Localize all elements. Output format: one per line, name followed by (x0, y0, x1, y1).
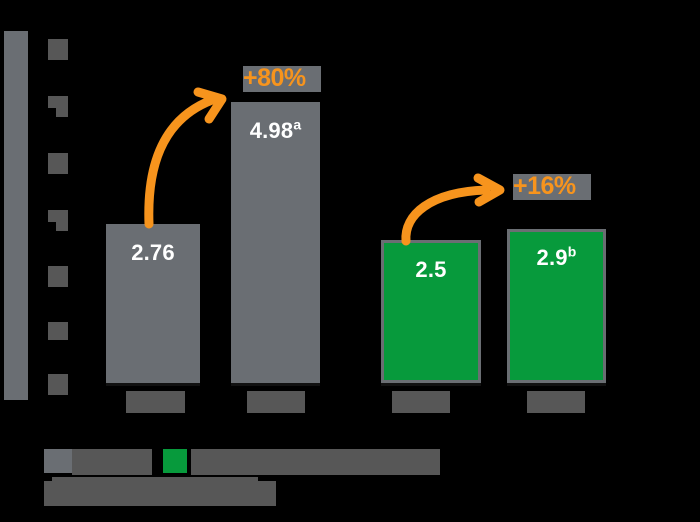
bar-value-text-0: 2.76 (131, 240, 175, 265)
bar-superscript-3: b (568, 244, 577, 260)
annotation-label-0: +80% (243, 64, 306, 93)
bar-1[interactable]: 4.98a (231, 102, 320, 383)
bar-baseline-0 (106, 383, 200, 386)
arrow-curve-0 (149, 100, 212, 224)
legend-label-0 (72, 449, 152, 475)
bar-value-text-3: 2.9 (537, 245, 568, 270)
plot-area: 2.76 4.98a 2.5 2.9b (0, 0, 700, 522)
x-axis-tick-label-1 (247, 391, 305, 413)
bar-value-text-2: 2.5 (415, 257, 446, 282)
bar-3[interactable]: 2.9b (507, 229, 606, 383)
bar-value-text-1: 4.98 (250, 118, 294, 143)
bar-0[interactable]: 2.76 (106, 224, 200, 383)
legend-swatch-gray (44, 449, 72, 473)
x-axis-tick-label-2 (392, 391, 450, 413)
bar-baseline-3 (507, 383, 606, 386)
bar-value-3: 2.9b (510, 245, 603, 271)
x-axis-tick-label-0 (126, 391, 185, 413)
annotation-label-1: +16% (513, 172, 576, 201)
bar-2[interactable]: 2.5 (381, 240, 481, 383)
bar-value-2: 2.5 (384, 257, 478, 283)
bar-baseline-2 (381, 383, 481, 386)
arrow-head-1 (478, 178, 500, 202)
arrow-head-0 (198, 92, 222, 119)
footnote (44, 481, 276, 506)
bar-value-0: 2.76 (106, 240, 200, 266)
bar-value-1: 4.98a (231, 118, 320, 144)
bar-superscript-1: a (293, 117, 301, 133)
bar-chart: 2.76 4.98a 2.5 2.9b (0, 0, 700, 522)
legend-label-1 (191, 449, 440, 475)
legend-swatch-green (163, 449, 187, 473)
arrow-curve-1 (406, 190, 486, 241)
bar-baseline-1 (231, 383, 320, 386)
x-axis-tick-label-3 (527, 391, 585, 413)
